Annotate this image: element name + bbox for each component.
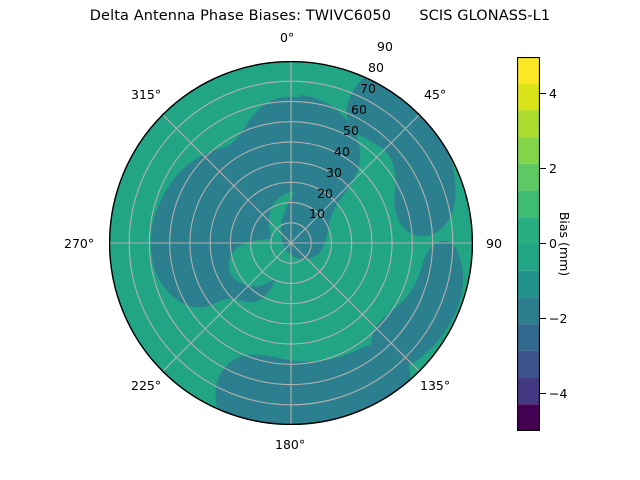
angle-tick-180: 180° <box>275 437 305 452</box>
page-title: Delta Antenna Phase Biases: TWIVC6050 SC… <box>0 8 640 24</box>
colorbar <box>517 57 540 431</box>
colorbar-tickmark-2 <box>540 168 546 169</box>
radial-tick-20: 20 <box>317 186 333 201</box>
radial-tick-30: 30 <box>326 165 342 180</box>
radial-tick-70: 70 <box>360 81 376 96</box>
angle-tick-135: 135° <box>420 378 450 393</box>
radial-tick-90: 90 <box>377 39 393 54</box>
angle-tick-315: 315° <box>131 87 161 102</box>
colorbar-gradient <box>517 57 540 431</box>
radial-tick-80: 80 <box>368 60 384 75</box>
angle-tick-90: 90 <box>486 236 502 251</box>
colorbar-tickmark-4 <box>540 93 546 94</box>
angle-tick-270: 270° <box>64 236 94 251</box>
polar-axes-svg <box>109 61 473 425</box>
radial-tick-40: 40 <box>334 144 350 159</box>
radial-tick-60: 60 <box>351 102 367 117</box>
angle-tick-0: 0° <box>280 30 294 45</box>
radial-tick-50: 50 <box>343 123 359 138</box>
polar-grid <box>109 61 473 425</box>
polar-plot: 10 20 30 40 50 60 70 80 90 <box>109 61 473 425</box>
figure-canvas: Delta Antenna Phase Biases: TWIVC6050 SC… <box>0 0 640 480</box>
colorbar-axis-label: Bias (mm) <box>552 57 572 431</box>
colorbar-tickmark-0 <box>540 243 546 244</box>
angle-tick-45: 45° <box>424 87 446 102</box>
colorbar-tickmark-neg4 <box>540 393 546 394</box>
colorbar-tickmark-neg2 <box>540 318 546 319</box>
angle-tick-225: 225° <box>131 378 161 393</box>
radial-tick-10: 10 <box>309 206 325 221</box>
